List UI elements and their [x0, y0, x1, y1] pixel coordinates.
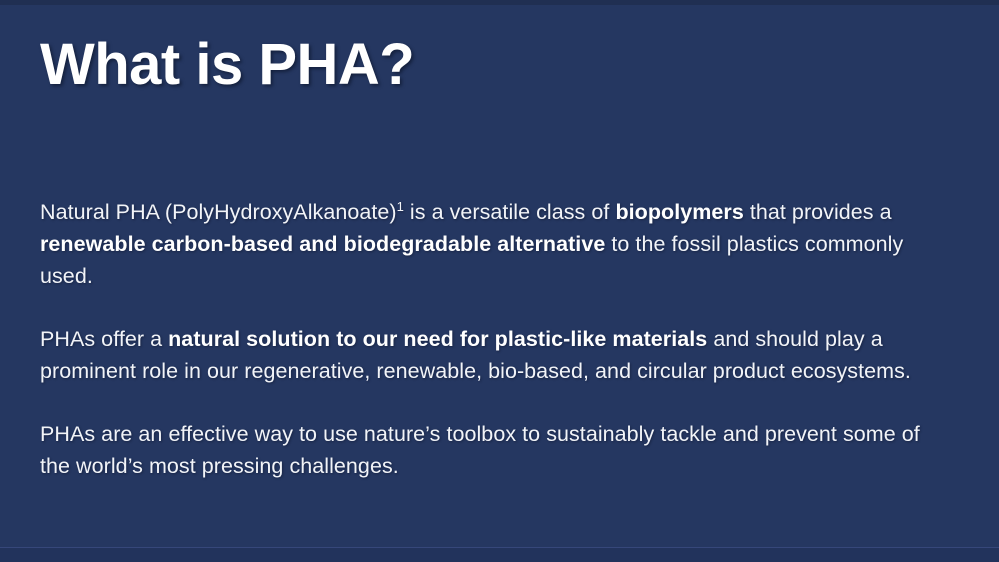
body-text: PHAs offer a [40, 327, 168, 351]
emphasis-text: natural solution to our need for plastic… [168, 327, 707, 351]
body-text: that provides a [744, 200, 892, 224]
slide-body: Natural PHA (PolyHydroxyAlkanoate)1 is a… [40, 196, 920, 482]
emphasis-text: renewable carbon-based and biodegradable… [40, 232, 605, 256]
paragraph-definition: Natural PHA (PolyHydroxyAlkanoate)1 is a… [40, 196, 920, 292]
body-text: Natural PHA (PolyHydroxyAlkanoate) [40, 200, 397, 224]
slide-bottom-band [0, 548, 999, 562]
footnote-marker: 1 [397, 199, 404, 214]
body-text: is a versatile class of [404, 200, 616, 224]
slide-title: What is PHA? [40, 34, 414, 96]
emphasis-text: biopolymers [615, 200, 743, 224]
slide-top-band [0, 0, 999, 5]
slide: What is PHA? Natural PHA (PolyHydroxyAlk… [0, 0, 999, 562]
paragraph-offer: PHAs offer a natural solution to our nee… [40, 323, 920, 387]
paragraph-effective: PHAs are an effective way to use nature’… [40, 418, 920, 482]
body-text: PHAs are an effective way to use nature’… [40, 422, 920, 478]
